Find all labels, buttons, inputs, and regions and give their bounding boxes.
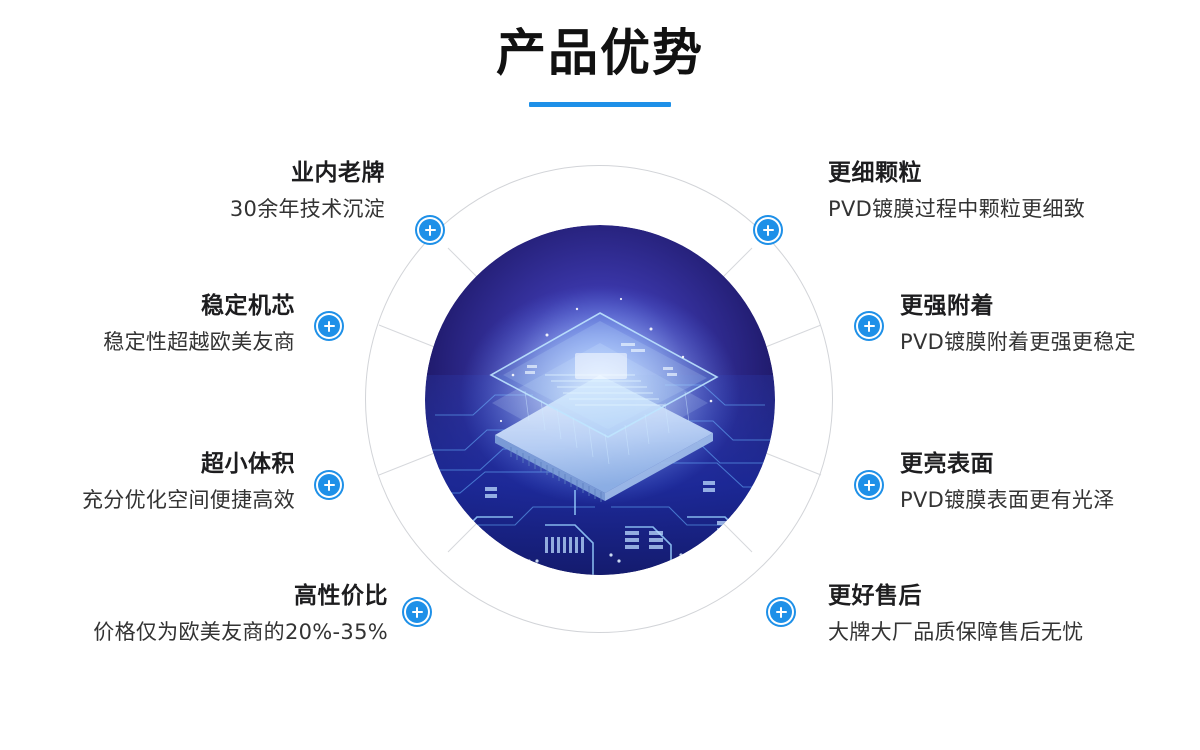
feature-title: 更细颗粒 xyxy=(828,157,922,189)
feature-desc: 30余年技术沉淀 xyxy=(230,193,385,225)
node-stable-core[interactable] xyxy=(318,315,340,337)
node-industry-veteran[interactable] xyxy=(419,219,441,241)
feature-title: 超小体积 xyxy=(201,448,295,480)
feature-industry-veteran[interactable]: 业内老牌 30余年技术沉淀 xyxy=(0,157,385,225)
circuit-chip-illustration xyxy=(425,225,775,575)
feature-title: 更好售后 xyxy=(828,580,922,612)
feature-cost-effective[interactable]: 高性价比 价格仅为欧美友商的20%-35% xyxy=(0,580,388,648)
node-compact-size[interactable] xyxy=(318,474,340,496)
node-cost-effective[interactable] xyxy=(406,601,428,623)
feature-brighter-surface[interactable]: 更亮表面 PVD镀膜表面更有光泽 xyxy=(900,448,1200,516)
feature-desc: 稳定性超越欧美友商 xyxy=(103,326,295,358)
feature-desc: PVD镀膜附着更强更稳定 xyxy=(900,326,1136,358)
feature-title: 稳定机芯 xyxy=(201,290,295,322)
title-underline xyxy=(529,102,671,107)
feature-title: 业内老牌 xyxy=(291,157,385,189)
hub-photo xyxy=(425,225,775,575)
feature-desc: 价格仅为欧美友商的20%-35% xyxy=(93,616,388,648)
product-advantages-page: 产品优势 xyxy=(0,0,1200,750)
radial-diagram xyxy=(365,165,835,635)
feature-title: 更强附着 xyxy=(900,290,994,322)
title-block: 产品优势 xyxy=(0,22,1200,107)
feature-finer-particles[interactable]: 更细颗粒 PVD镀膜过程中颗粒更细致 xyxy=(828,157,1200,225)
node-better-service[interactable] xyxy=(770,601,792,623)
node-stronger-adhesion[interactable] xyxy=(858,315,880,337)
feature-better-service[interactable]: 更好售后 大牌大厂品质保障售后无忧 xyxy=(828,580,1200,648)
feature-desc: 大牌大厂品质保障售后无忧 xyxy=(828,616,1084,648)
feature-stronger-adhesion[interactable]: 更强附着 PVD镀膜附着更强更稳定 xyxy=(900,290,1200,358)
feature-compact-size[interactable]: 超小体积 充分优化空间便捷高效 xyxy=(0,448,295,516)
page-title: 产品优势 xyxy=(0,22,1200,84)
feature-desc: 充分优化空间便捷高效 xyxy=(82,484,295,516)
feature-desc: PVD镀膜表面更有光泽 xyxy=(900,484,1115,516)
feature-title: 高性价比 xyxy=(294,580,388,612)
node-finer-particles[interactable] xyxy=(757,219,779,241)
feature-stable-core[interactable]: 稳定机芯 稳定性超越欧美友商 xyxy=(0,290,295,358)
node-brighter-surface[interactable] xyxy=(858,474,880,496)
feature-title: 更亮表面 xyxy=(900,448,994,480)
feature-desc: PVD镀膜过程中颗粒更细致 xyxy=(828,193,1085,225)
